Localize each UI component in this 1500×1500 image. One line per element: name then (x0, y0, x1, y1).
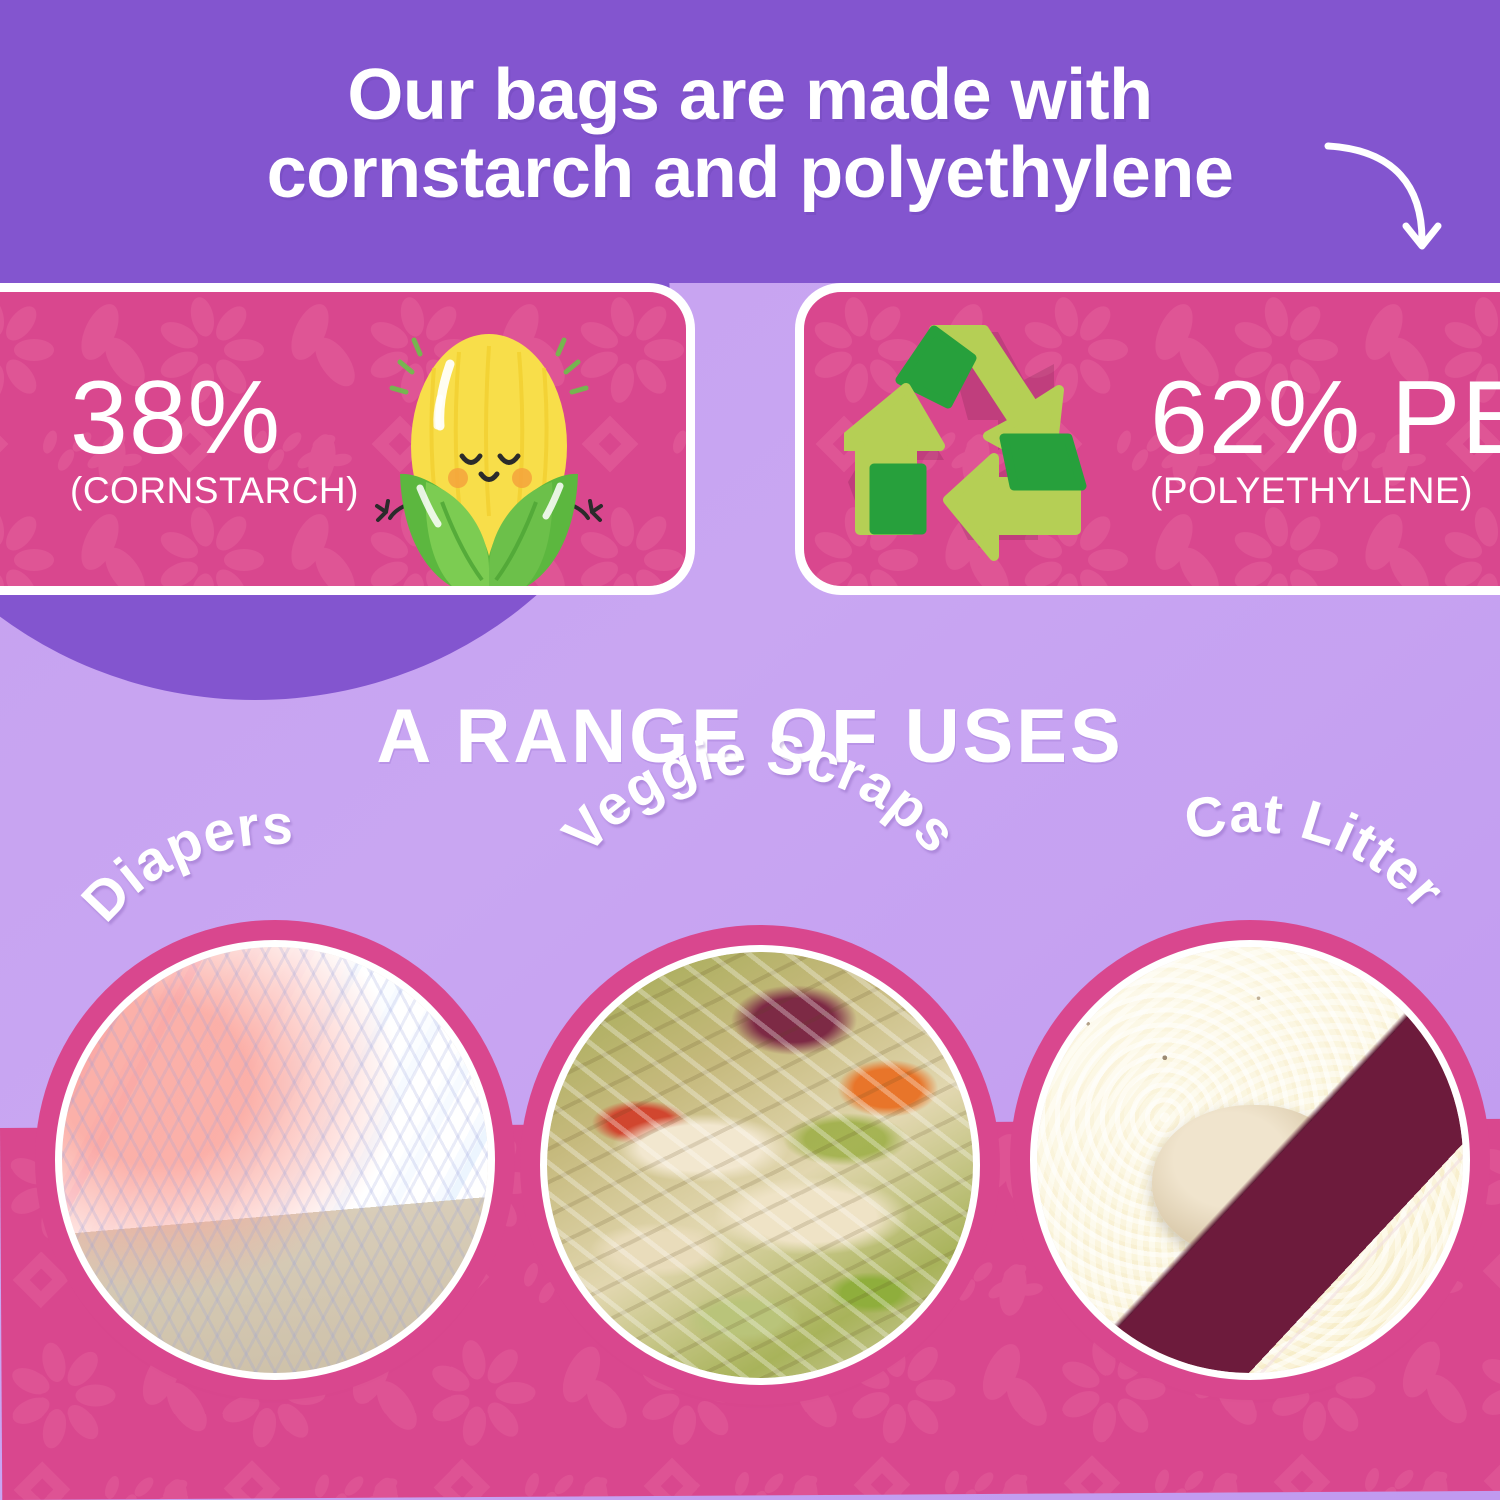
card-cornstarch: 38% (CORNSTARCH) (0, 283, 695, 595)
photo-circle-diapers (55, 940, 495, 1380)
uses-section-heading: A RANGE OF USES (0, 694, 1500, 780)
vegetable-scraps-photo (547, 952, 973, 1378)
stacked-diapers-photo (62, 947, 488, 1373)
corn-character-icon (364, 306, 614, 595)
infographic-canvas: Our bags are made with cornstarch and po… (0, 0, 1500, 1500)
polyethylene-percent: 62% PE (1150, 366, 1500, 470)
cornstarch-percent: 38% (70, 366, 359, 470)
polyethylene-material-label: (POLYETHYLENE) (1150, 470, 1500, 512)
use-label-text: Diapers (69, 793, 295, 933)
photo-circle-veggie-scraps (540, 945, 980, 1385)
composition-cards-row: 38% (CORNSTARCH) (0, 283, 1500, 595)
use-item-cat-litter: Cat Litter (1030, 940, 1470, 1380)
curved-down-arrow-icon (1318, 128, 1458, 268)
page-title-line2: cornstarch and polyethylene (80, 134, 1420, 212)
page-title: Our bags are made with cornstarch and po… (0, 56, 1500, 212)
photo-circle-cat-litter (1030, 940, 1470, 1380)
page-title-line1: Our bags are made with (347, 55, 1152, 135)
recycle-symbol-icon (844, 318, 1134, 576)
use-item-veggie-scraps: Veggie Scraps (540, 945, 980, 1385)
card-polyethylene: 62% PE (POLYETHYLENE) (795, 283, 1500, 595)
polyethylene-text-block: 62% PE (POLYETHYLENE) (1104, 366, 1500, 512)
cornstarch-material-label: (CORNSTARCH) (70, 470, 359, 512)
use-label-text: Cat Litter (1179, 780, 1458, 920)
svg-text:Cat Litter: Cat Litter (1179, 780, 1458, 920)
header-band: Our bags are made with cornstarch and po… (0, 0, 1500, 283)
litter-pile (1152, 1105, 1348, 1258)
cat-litter-scoop-photo (1037, 947, 1463, 1373)
svg-text:Diapers: Diapers (69, 793, 295, 933)
use-item-diapers: Diapers (55, 940, 495, 1380)
cornstarch-text-block: 38% (CORNSTARCH) (0, 366, 359, 512)
